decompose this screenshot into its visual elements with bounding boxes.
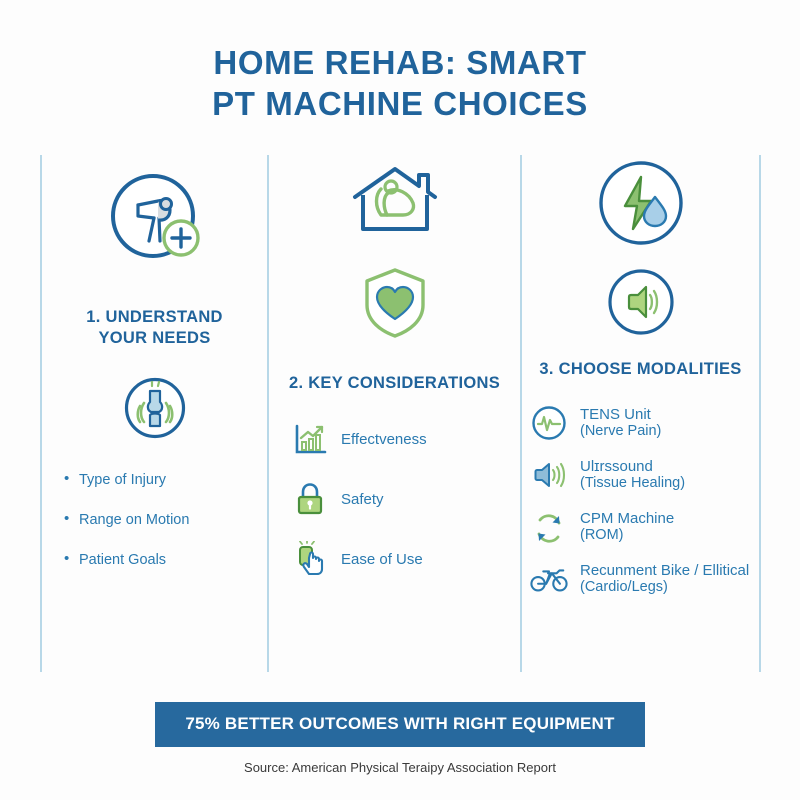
list-item: Recunment Bike / Ellitical (Cardio/Legs)	[530, 560, 759, 598]
list-item: Ease of Use	[291, 540, 520, 578]
padlock-icon	[291, 480, 329, 518]
needs-bullet-list: Type of Injury Range on Motion Patient G…	[42, 471, 267, 569]
list-item-title: Ulɪrssound	[580, 458, 653, 475]
bolt-droplet-icon	[522, 161, 759, 245]
tap-hand-icon	[291, 540, 329, 578]
ultrasound-speaker-icon	[530, 456, 568, 494]
list-item-title: TENS Unit	[580, 406, 651, 423]
rotate-cycle-icon	[530, 508, 568, 546]
list-item-subtitle: (ROM)	[580, 527, 674, 544]
list-item: Ulɪrssound (Tissue Healing)	[530, 456, 759, 494]
list-item: TENS Unit (Nerve Pain)	[530, 404, 759, 442]
source-text: Source: American Physical Teraipy Associ…	[0, 760, 800, 775]
shield-heart-icon	[269, 265, 520, 341]
list-item-title: CPM Machine	[580, 510, 674, 527]
column-1-heading: 1. UNDERSTAND YOUR NEEDS	[42, 307, 267, 349]
column-2-heading: 2. KEY CONSIDERATIONS	[269, 373, 520, 394]
column-1-heading-line-1: 1. UNDERSTAND	[42, 307, 267, 328]
list-item: Effectveness	[291, 420, 520, 458]
list-item-label: Ulɪrssound (Tissue Healing)	[580, 458, 685, 492]
speaker-wave-icon	[522, 269, 759, 335]
home-strength-icon	[269, 163, 520, 237]
list-item: CPM Machine (ROM)	[530, 508, 759, 546]
considerations-list: Effectveness Safety	[269, 420, 520, 578]
list-item-label: Recunment Bike / Ellitical (Cardio/Legs)	[580, 562, 749, 596]
list-item-title: Recunment Bike / Ellitical	[580, 562, 749, 579]
list-item-subtitle: (Tissue Healing)	[580, 475, 685, 492]
bar-chart-growth-icon	[291, 420, 329, 458]
modalities-list: TENS Unit (Nerve Pain) Ulɪrssound (Tissu…	[522, 404, 759, 598]
footer: 75% BETTER OUTCOMES WITH RIGHT EQUIPMENT…	[0, 702, 800, 800]
column-3-heading: 3. CHOOSE MODALITIES	[522, 359, 759, 380]
status-badge: 75% BETTER OUTCOMES WITH RIGHT EQUIPMENT	[155, 702, 644, 747]
columns-container: 1. UNDERSTAND YOUR NEEDS Type of I	[0, 155, 800, 675]
column-understand-your-needs: 1. UNDERSTAND YOUR NEEDS Type of I	[42, 155, 267, 675]
column-key-considerations: 2. KEY CONSIDERATIONS Effectveness	[269, 155, 520, 675]
column-1-heading-line-2: YOUR NEEDS	[42, 328, 267, 349]
list-item-subtitle: (Nerve Pain)	[580, 423, 661, 440]
page-title: HOME REHAB: SMART PT MACHINE CHOICES	[0, 0, 800, 124]
column-choose-modalities: 3. CHOOSE MODALITIES TENS Unit (Nerve Pa…	[522, 155, 759, 675]
pulse-circle-icon	[530, 404, 568, 442]
list-item-label: TENS Unit (Nerve Pain)	[580, 406, 661, 440]
list-item-label: Effectveness	[341, 431, 427, 448]
knee-joint-icon	[42, 369, 267, 447]
list-item-label: Ease of Use	[341, 551, 423, 568]
page-title-line-1: HOME REHAB: SMART	[0, 42, 800, 83]
list-item: Patient Goals	[64, 551, 267, 569]
bicycle-icon	[530, 560, 568, 598]
injury-person-plus-icon	[42, 171, 267, 265]
list-item: Range on Motion	[64, 511, 267, 529]
list-item-label: Safety	[341, 491, 384, 508]
list-item: Safety	[291, 480, 520, 518]
list-item-label: CPM Machine (ROM)	[580, 510, 674, 544]
list-item: Type of Injury	[64, 471, 267, 489]
page-title-line-2: PT MACHINE CHOICES	[0, 83, 800, 124]
list-item-subtitle: (Cardio/Legs)	[580, 579, 749, 596]
